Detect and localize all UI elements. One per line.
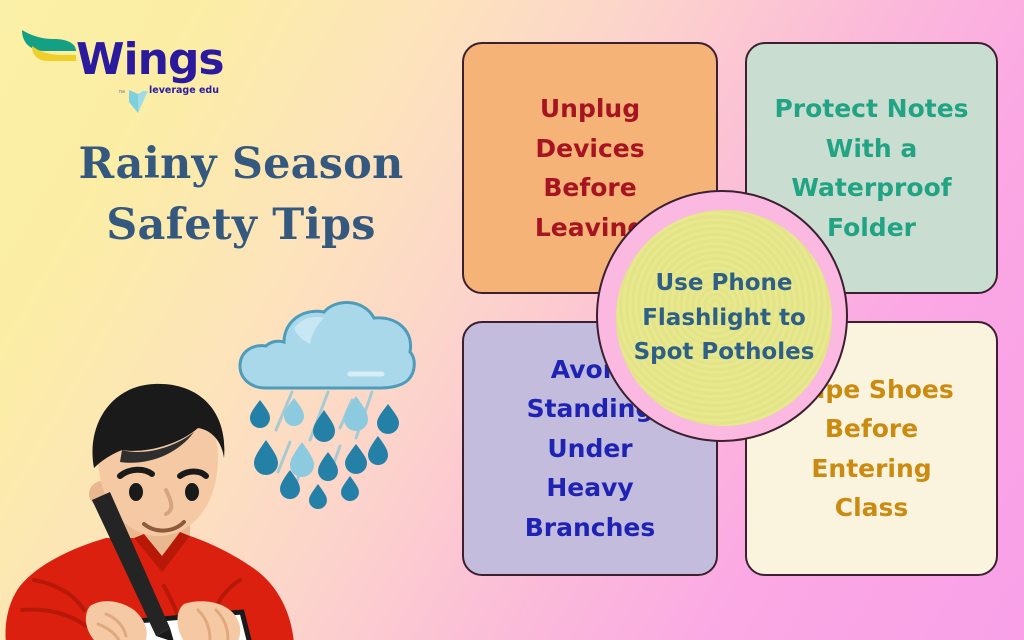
title-line-2: Safety Tips <box>46 195 436 256</box>
center-highlight-text: Use Phone Flashlight to Spot Potholes <box>633 266 815 371</box>
title-line-1: Rainy Season <box>79 139 404 189</box>
brand-wordmark: Wings <box>76 38 224 82</box>
wing-icon <box>18 26 80 64</box>
brand-tagline: leverage edu <box>149 86 229 97</box>
center-highlight-disc[interactable]: Use Phone Flashlight to Spot Potholes <box>616 210 832 426</box>
page-title: Rainy Season Safety Tips <box>46 134 436 256</box>
brand-logo[interactable]: Wings ™ leverage edu <box>18 18 233 118</box>
center-highlight-ring[interactable]: Use Phone Flashlight to Spot Potholes <box>596 190 848 442</box>
trademark-symbol: ™ <box>118 90 125 97</box>
poster-canvas: Wings ™ leverage edu Rainy Season Safety… <box>0 0 1024 640</box>
boy-writing-icon <box>0 372 334 640</box>
